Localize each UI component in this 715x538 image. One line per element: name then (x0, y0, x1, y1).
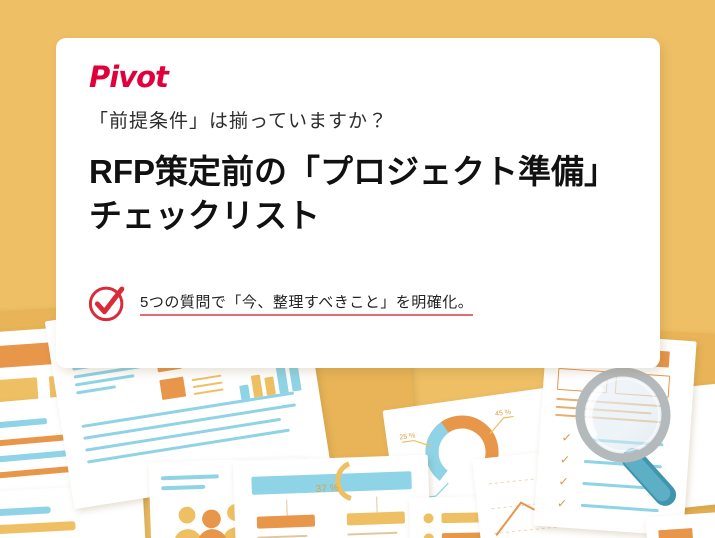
doc-line (192, 375, 222, 382)
doc-line (161, 474, 219, 480)
connector (286, 500, 288, 516)
magnifying-glass-icon (566, 360, 715, 520)
mini-bar (0, 506, 51, 516)
circle-check-icon (86, 282, 128, 324)
pivot-logo[interactable]: Pivot (89, 60, 168, 94)
headline-line-1: RFP策定前の「プロジェクト準備」 (89, 153, 617, 190)
hero-card: Pivot 「前提条件」は揃っていますか？ RFP策定前の「プロジェクト準備」 … (56, 38, 660, 368)
doc-block (658, 528, 693, 538)
doc-line (193, 381, 223, 388)
slide-canvas: 45 % 25 % 30 % ★★★★★ (0, 0, 715, 538)
mini-chart-bar (264, 376, 276, 395)
gauge-chart: 37 % (295, 449, 390, 516)
tagline-wrapper: 5つの質問で「今、整理すべきこと」を明確化。 (140, 291, 473, 316)
page-title: RFP策定前の「プロジェクト準備」 チェックリスト (89, 150, 649, 238)
doc-line (0, 418, 47, 431)
doc-line (194, 388, 224, 395)
doc-line (161, 485, 205, 491)
mini-chart-bar (251, 375, 263, 398)
mini-chart-bar (239, 384, 250, 399)
tagline-text: 5つの質問で「今、整理すべきこと」を明確化。 (140, 294, 473, 311)
headline-line-2: チェックリスト (89, 194, 649, 238)
tagline-row: 5つの質問で「今、整理すべきこと」を明確化。 (86, 282, 473, 324)
collage-doc-gauge: 37 % (295, 446, 450, 538)
tagline-underline (140, 314, 473, 316)
mini-chart-bar (276, 365, 289, 394)
doc-block (159, 377, 186, 401)
svg-text:37 %: 37 % (315, 483, 339, 495)
kicker-text: 「前提条件」は揃っていますか？ (89, 106, 388, 133)
doc-line (76, 385, 116, 394)
mini-bar (0, 521, 76, 534)
